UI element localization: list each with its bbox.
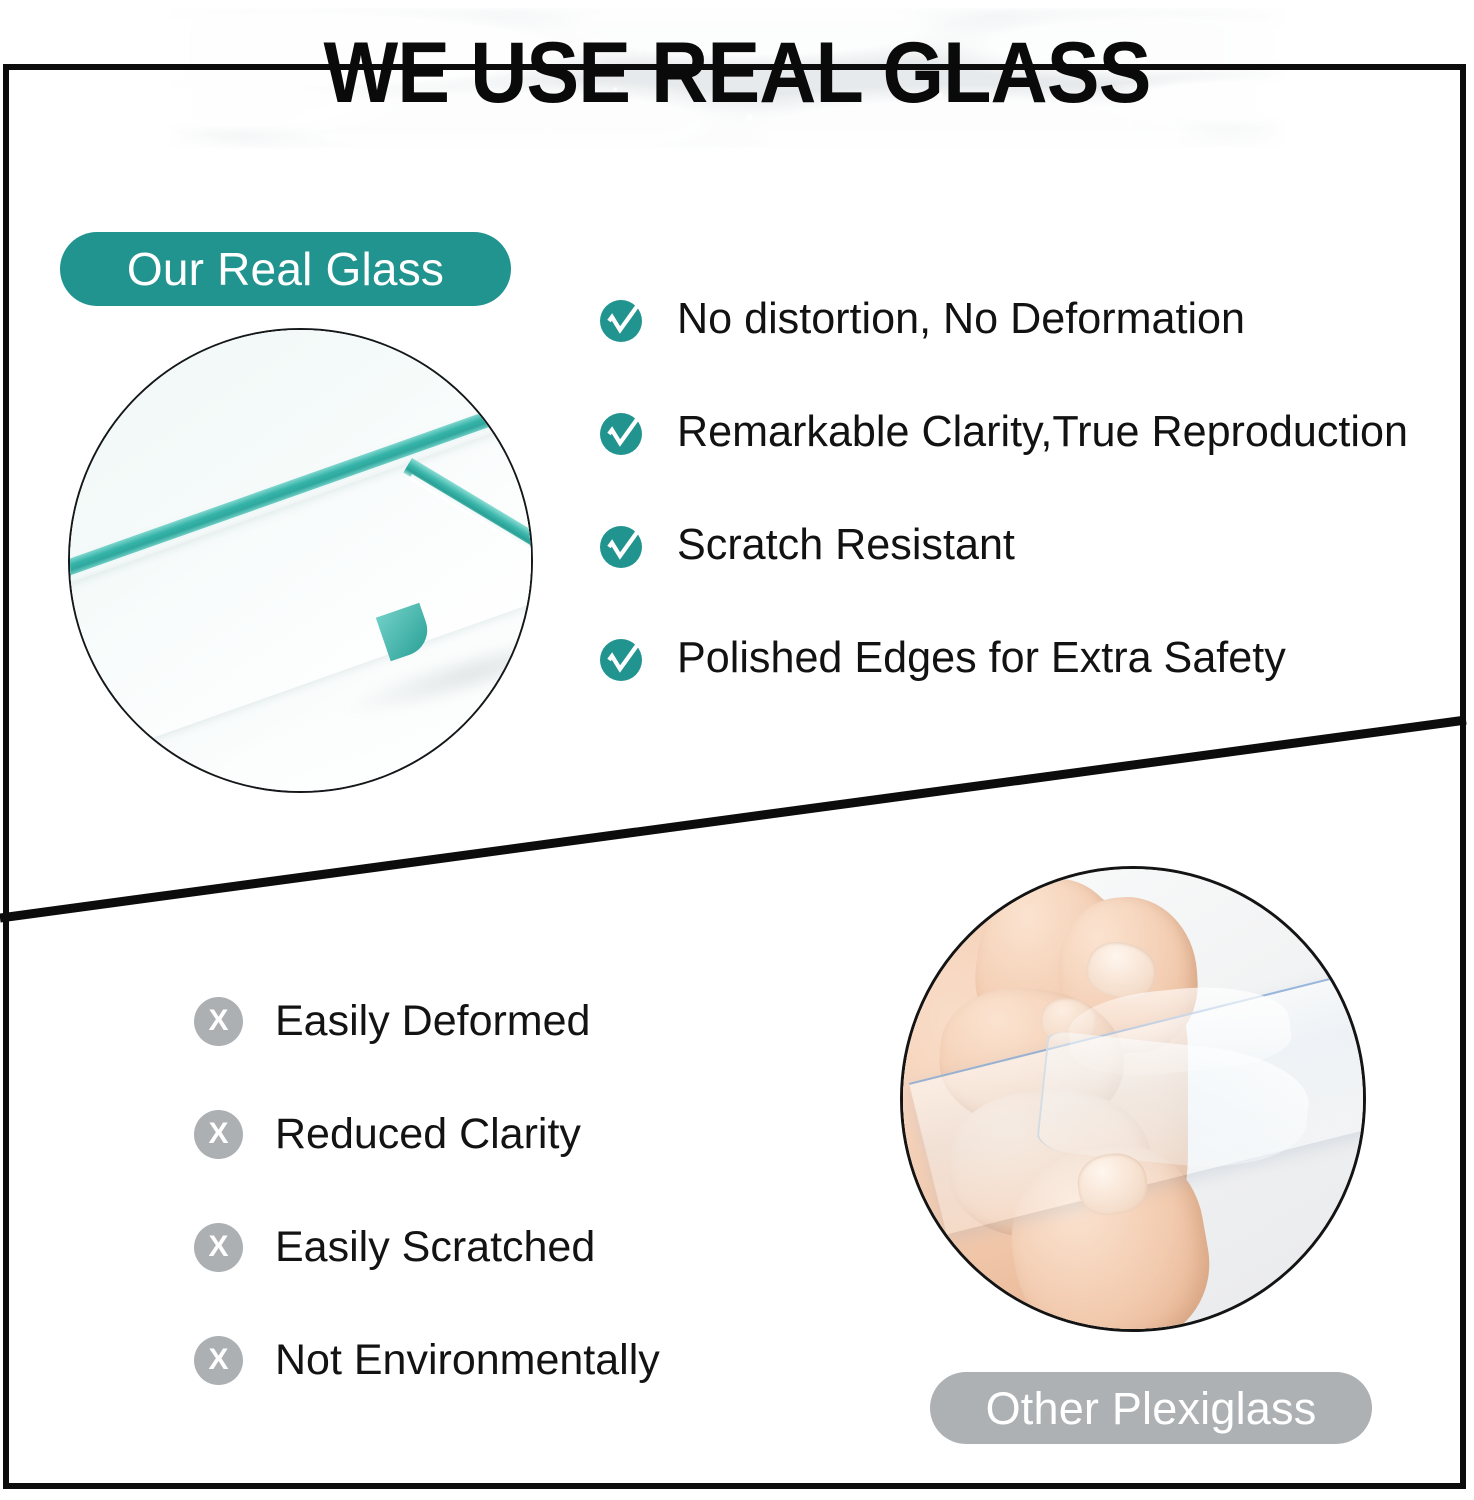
badge-our-real-glass: Our Real Glass [60, 232, 511, 306]
page-title: WE USE REAL GLASS [59, 30, 1415, 116]
list-item-label: Polished Edges for Extra Safety [677, 634, 1286, 682]
list-item-label: Easily Scratched [275, 1224, 595, 1271]
x-circle-icon: X [194, 997, 243, 1046]
list-item-label: No distortion, No Deformation [677, 295, 1245, 343]
check-circle-icon [596, 632, 649, 685]
drawbacks-list: X Easily Deformed X Reduced Clarity X Ea… [194, 996, 660, 1385]
check-circle-icon [596, 406, 649, 459]
list-item: Scratch Resistant [596, 512, 1464, 578]
check-circle-icon [596, 519, 649, 572]
plexiglass-photo [900, 866, 1366, 1332]
list-item: X Reduced Clarity [194, 1109, 660, 1159]
badge-our-real-glass-label: Our Real Glass [127, 246, 444, 292]
x-circle-icon: X [194, 1110, 243, 1159]
list-item-label: Easily Deformed [275, 998, 590, 1045]
list-item: X Easily Scratched [194, 1222, 660, 1272]
badge-other-plexiglass: Other Plexiglass [930, 1372, 1372, 1444]
list-item-label: Not Environmentally [275, 1337, 660, 1384]
check-circle-icon [596, 293, 649, 346]
real-glass-photo [68, 328, 533, 793]
list-item: Remarkable Clarity,True Reproduction [596, 399, 1464, 465]
list-item: No distortion, No Deformation [596, 286, 1464, 352]
list-item: X Easily Deformed [194, 996, 660, 1046]
list-item-label: Scratch Resistant [677, 521, 1015, 569]
list-item: X Not Environmentally [194, 1335, 660, 1385]
benefits-list: No distortion, No Deformation Remarkable… [596, 286, 1464, 691]
real-glass-photo-scene [68, 328, 533, 793]
x-circle-icon: X [194, 1223, 243, 1272]
x-circle-icon: X [194, 1336, 243, 1385]
list-item-label: Remarkable Clarity,True Reproduction [677, 408, 1408, 456]
badge-other-plexiglass-label: Other Plexiglass [986, 1386, 1317, 1431]
list-item-label: Reduced Clarity [275, 1111, 581, 1158]
list-item: Polished Edges for Extra Safety [596, 625, 1464, 691]
